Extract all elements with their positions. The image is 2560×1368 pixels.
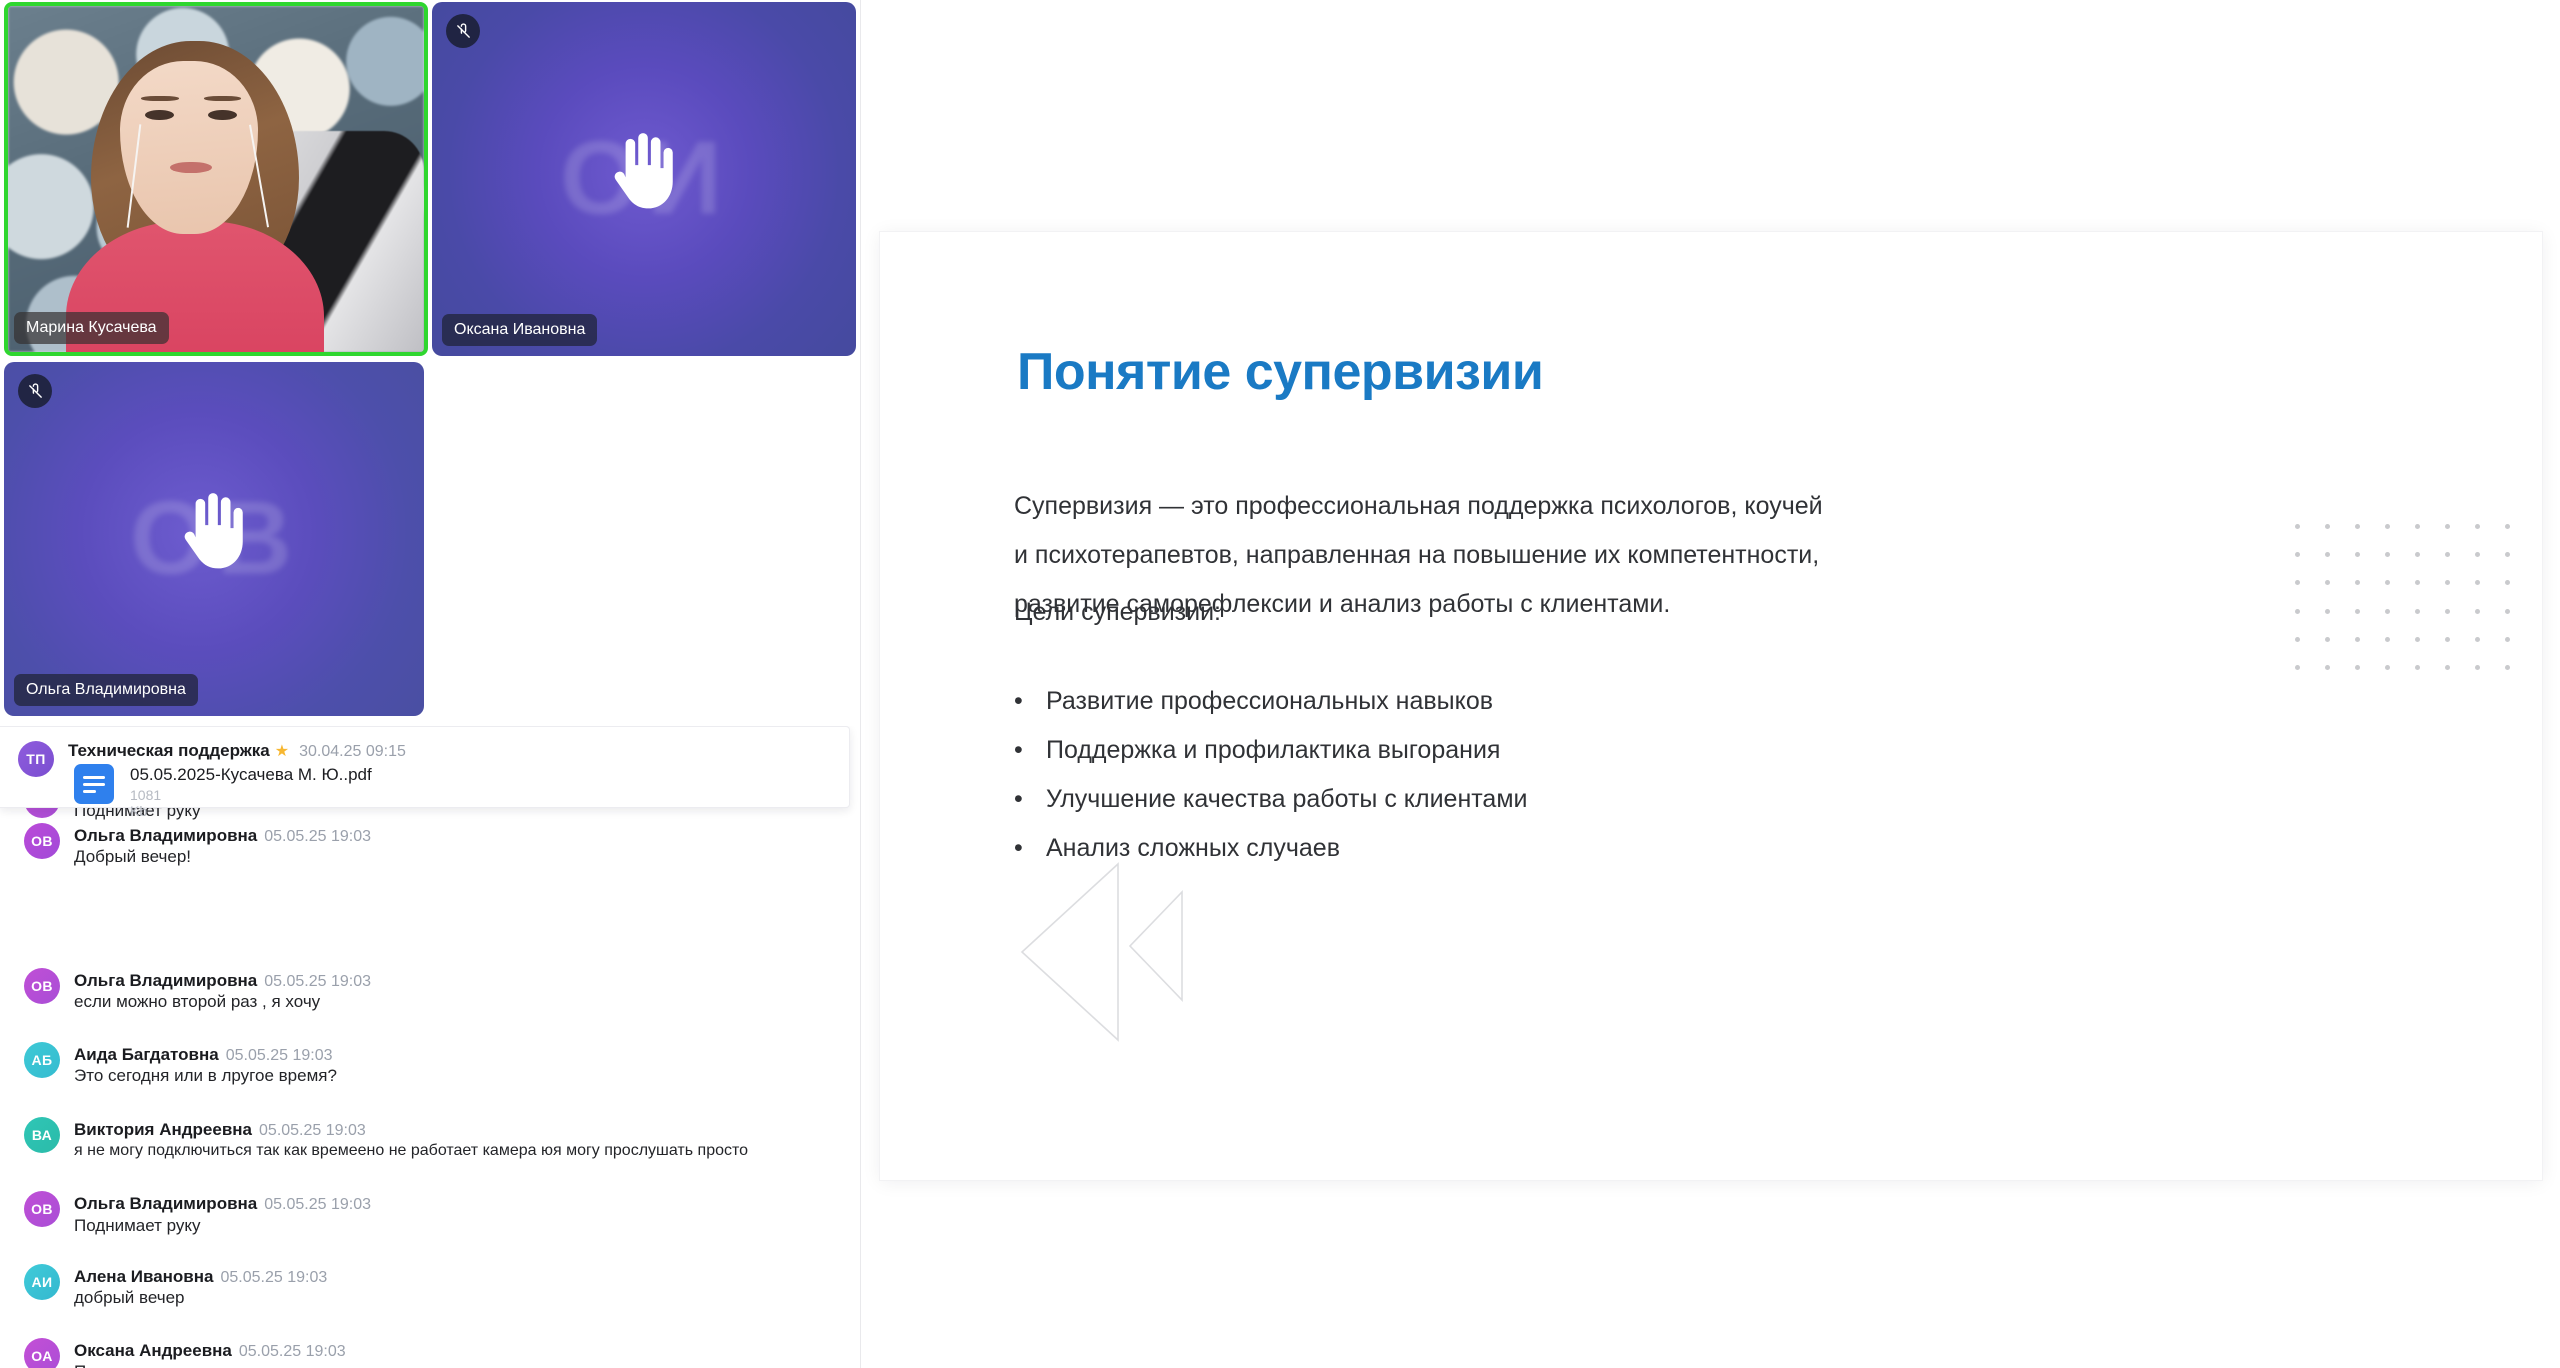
message-timestamp: 30.04.25 09:15 [299, 743, 406, 760]
chat-message-text: Добрый вечер! [74, 846, 191, 867]
slide-paragraph-line: и психотерапевтов, направленная на повыш… [1014, 531, 1823, 580]
video-tile-oksana[interactable]: ОИ Оксана Ивановна [432, 2, 856, 356]
chat-message-text: добрый вечер [74, 1287, 185, 1308]
chat-message-text: Это сегодня или в лругое время? [74, 1065, 337, 1086]
participant-name-label: Марина Кусачева [14, 312, 169, 344]
slide-bullet-text: Поддержка и профилактика выгорания [1046, 736, 1500, 764]
slide-paragraph-line: Супервизия — это профессиональная поддер… [1014, 482, 1823, 531]
file-name[interactable]: 05.05.2025-Кусачева М. Ю..pdf [130, 765, 372, 785]
slide-bullet-item: •Улучшение качества работы с клиентами [1014, 785, 1527, 814]
message-timestamp: 05.05.25 19:03 [264, 1196, 371, 1213]
chat-message-text: я не могу подключиться так как времеено … [74, 1140, 748, 1161]
participants-and-chat-column: Марина Кусачева ОИ Оксана Ивановна ОВ [0, 0, 860, 1368]
avatar: ОВ [24, 823, 60, 859]
avatar: ТП [18, 741, 54, 777]
message-author: Ольга Владимировна [74, 1194, 257, 1213]
message-timestamp: 05.05.25 19:03 [220, 1269, 327, 1286]
avatar: ОА [24, 1338, 60, 1368]
slide-bullet-text: Анализ сложных случаев [1046, 834, 1340, 862]
avatar: АИ [24, 1264, 60, 1300]
document-icon [74, 764, 114, 804]
presentation-slide[interactable]: Понятие супервизии Супервизия — это проф… [880, 232, 2542, 1180]
slide-title: Понятие супервизии [1017, 342, 1543, 402]
bullet-marker: • [1014, 687, 1046, 716]
chat-message-list[interactable]: Поднимает руку ТП Техническая поддержка★… [0, 726, 860, 1368]
bullet-marker: • [1014, 785, 1046, 814]
message-timestamp: 05.05.25 19:03 [226, 1047, 333, 1064]
slide-bullet-item: •Анализ сложных случаев [1014, 834, 1340, 863]
bullet-marker: • [1014, 736, 1046, 765]
pinned-message-card[interactable]: ТП Техническая поддержка★30.04.25 09:15 … [0, 726, 850, 808]
screen-share-stage: Понятие супервизии Супервизия — это проф… [861, 0, 2560, 1368]
microphone-off-icon[interactable] [18, 374, 52, 408]
raised-hand-icon [168, 484, 260, 594]
participant-name-label: Оксана Ивановна [442, 314, 597, 346]
message-author: Алена Ивановна [74, 1267, 213, 1286]
avatar: АБ [24, 1042, 60, 1078]
chat-message-text: если можно второй раз , я хочу [74, 991, 320, 1012]
slide-bullet-text: Улучшение качества работы с клиентами [1046, 785, 1527, 813]
message-timestamp: 05.05.25 19:03 [259, 1122, 366, 1139]
video-tile-olga[interactable]: ОВ Ольга Владимировна [4, 362, 424, 716]
chat-message-header: Алена Ивановна05.05.25 19:03 [74, 1267, 327, 1288]
slide-paragraph-2: Цели супервизии: [1014, 588, 1221, 637]
participant-name-label: Ольга Владимировна [14, 674, 198, 706]
message-author: Ольга Владимировна [74, 971, 257, 990]
message-timestamp: 05.05.25 19:03 [239, 1343, 346, 1360]
avatar: ВА [24, 1117, 60, 1153]
raised-hand-icon [598, 124, 690, 234]
chat-message-header: Ольга Владимировна05.05.25 19:03 [74, 1194, 371, 1215]
message-author: Техническая поддержка [68, 741, 270, 760]
chat-message-header: Аида Багдатовна05.05.25 19:03 [74, 1045, 332, 1066]
conference-app-window: Марина Кусачева ОИ Оксана Ивановна ОВ [0, 0, 2560, 1368]
file-size: 1081 Kb [130, 787, 161, 819]
pinned-message-header: Техническая поддержка★30.04.25 09:15 [68, 741, 406, 762]
triangle-outline-decoration [1010, 852, 1270, 1052]
participant-eye-right [208, 110, 237, 120]
message-author: Виктория Андреевна [74, 1120, 252, 1139]
microphone-off-icon[interactable] [446, 14, 480, 48]
chat-message-header: Ольга Владимировна05.05.25 19:03 [74, 826, 371, 847]
message-timestamp: 05.05.25 19:03 [264, 828, 371, 845]
message-author: Аида Багдатовна [74, 1045, 219, 1064]
slide-bullet-item: •Развитие профессиональных навыков [1014, 687, 1493, 716]
video-tile-marina[interactable]: Марина Кусачева [4, 2, 428, 356]
chat-message-header: Оксана Андреевна05.05.25 19:03 [74, 1341, 346, 1362]
slide-bullet-text: Развитие профессиональных навыков [1046, 687, 1493, 715]
slide-bullet-item: •Поддержка и профилактика выгорания [1014, 736, 1500, 765]
chat-message-text: Поднимает руку [74, 1361, 201, 1368]
message-author: Ольга Владимировна [74, 826, 257, 845]
dot-grid-decoration [2282, 512, 2522, 682]
message-author: Оксана Андреевна [74, 1341, 232, 1360]
star-icon: ★ [275, 743, 289, 760]
message-timestamp: 05.05.25 19:03 [264, 973, 371, 990]
bullet-marker: • [1014, 834, 1046, 863]
avatar: ОВ [24, 1191, 60, 1227]
chat-message-header: Ольга Владимировна05.05.25 19:03 [74, 971, 371, 992]
chat-message-text: Поднимает руку [74, 1215, 201, 1236]
avatar: ОВ [24, 968, 60, 1004]
chat-message-header: Виктория Андреевна05.05.25 19:03 [74, 1120, 366, 1141]
